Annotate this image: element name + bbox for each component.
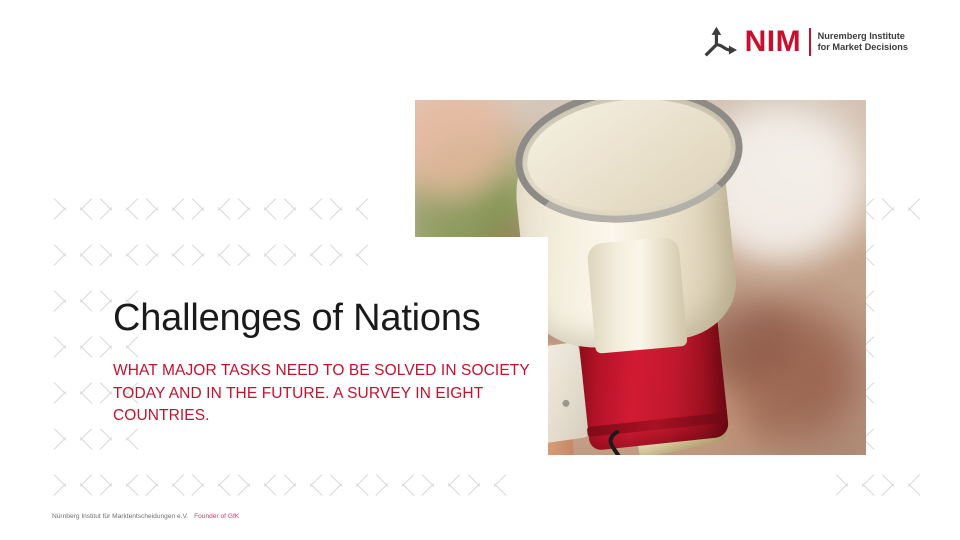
megaphone-cable-icon (565, 430, 715, 455)
pattern-x-icon (54, 190, 92, 228)
nim-logo: NIM Nuremberg Institute for Market Decis… (700, 20, 908, 64)
pattern-x-icon (422, 466, 460, 504)
pattern-x-icon (284, 236, 322, 274)
footer-founder-note: Founder of GfK (194, 513, 239, 520)
pattern-x-icon (238, 236, 276, 274)
pattern-x-icon (192, 236, 230, 274)
pattern-x-icon (882, 190, 920, 228)
logo-tagline-line1: Nuremberg Institute (818, 31, 908, 43)
pattern-x-icon (146, 466, 184, 504)
pattern-x-icon (192, 466, 230, 504)
pattern-x-icon (54, 466, 92, 504)
page-title: Challenges of Nations (113, 297, 481, 340)
footer-organization: Nürnberg Institut für Marktentscheidunge… (52, 513, 188, 520)
pattern-x-icon (468, 466, 506, 504)
pattern-x-icon (284, 190, 322, 228)
branching-arrows-icon (700, 25, 740, 59)
megaphone-horn-neck (586, 236, 687, 354)
pattern-x-icon (836, 466, 874, 504)
pattern-x-icon (54, 236, 92, 274)
pattern-x-icon (192, 190, 230, 228)
screw (562, 399, 570, 407)
pattern-x-icon (54, 374, 92, 412)
logo-wordmark: NIM (745, 27, 802, 57)
pattern-x-icon (54, 282, 92, 320)
pattern-x-icon (330, 190, 368, 228)
logo-divider (809, 28, 811, 56)
pattern-x-icon (330, 236, 368, 274)
pattern-x-icon (54, 328, 92, 366)
pattern-x-icon (100, 190, 138, 228)
page-subtitle: WHAT MAJOR TASKS NEED TO BE SOLVED IN SO… (113, 360, 533, 428)
slide-canvas: Challenges of Nations WHAT MAJOR TASKS N… (0, 0, 960, 540)
pattern-x-icon (882, 466, 920, 504)
logo-tagline-line2: for Market Decisions (818, 42, 908, 54)
pattern-x-icon (238, 190, 276, 228)
pattern-x-icon (54, 420, 92, 458)
pattern-x-icon (238, 466, 276, 504)
pattern-x-icon (146, 236, 184, 274)
pattern-x-icon (100, 236, 138, 274)
pattern-x-icon (376, 466, 414, 504)
pattern-x-icon (284, 466, 322, 504)
footer: Nürnberg Institut für Marktentscheidunge… (52, 512, 239, 521)
pattern-x-icon (146, 190, 184, 228)
pattern-x-icon (100, 466, 138, 504)
logo-tagline: Nuremberg Institute for Market Decisions (818, 31, 908, 54)
pattern-x-icon (330, 466, 368, 504)
